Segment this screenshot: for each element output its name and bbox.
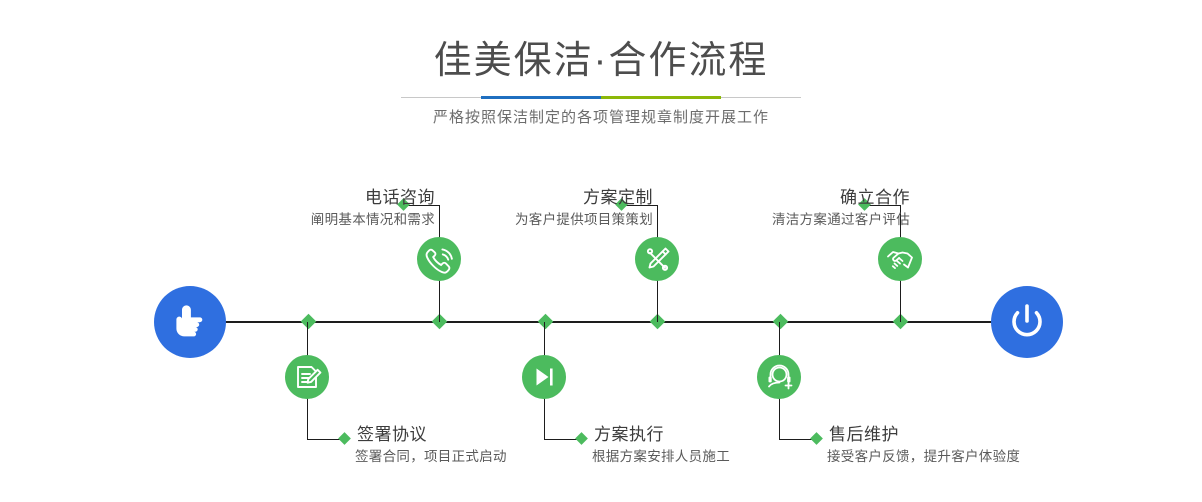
- title-divider: [401, 96, 801, 100]
- axis-node-3: [538, 314, 554, 330]
- page-subtitle: 严格按照保洁制定的各项管理规章制度开展工作: [0, 106, 1202, 127]
- contract-sign-icon: [285, 355, 329, 399]
- power-icon: [991, 286, 1063, 358]
- step-icon-4[interactable]: [522, 355, 566, 399]
- step-desc-4: 根据方案安排人员施工: [592, 448, 730, 466]
- step-title-4: 方案执行: [592, 425, 730, 445]
- step-desc-2: 签署合同，项目正式启动: [355, 448, 507, 466]
- connector-diamond-step-2: [338, 432, 351, 445]
- flow-start-marker: [154, 286, 226, 358]
- page-title: 佳美保洁·合作流程: [0, 42, 1202, 80]
- step-icon-1[interactable]: [417, 237, 461, 281]
- step-label-1: 电话咨询 阐明基本情况和需求: [311, 188, 435, 229]
- handshake-icon: [878, 237, 922, 281]
- step-desc-3: 为客户提供项目策策划: [515, 211, 653, 229]
- infographic-canvas: 佳美保洁·合作流程 严格按照保洁制定的各项管理规章制度开展工作: [0, 0, 1202, 502]
- divider-blue-segment: [481, 96, 601, 99]
- step-icon-3[interactable]: [635, 237, 679, 281]
- step-icon-5[interactable]: [878, 237, 922, 281]
- phone-call-icon: [417, 237, 461, 281]
- play-skip-icon: [522, 355, 566, 399]
- step-desc-5: 清洁方案通过客户评估: [772, 211, 910, 229]
- step-icon-6[interactable]: [757, 355, 801, 399]
- headset-support-add-icon: [757, 355, 801, 399]
- axis-node-5: [773, 314, 789, 330]
- pencil-compass-icon: [635, 237, 679, 281]
- step-label-5: 确立合作 清洁方案通过客户评估: [772, 188, 910, 229]
- step-title-6: 售后维护: [827, 425, 1020, 445]
- step-desc-1: 阐明基本情况和需求: [311, 211, 435, 229]
- step-title-3: 方案定制: [515, 188, 653, 208]
- step-label-2: 签署协议 签署合同，项目正式启动: [355, 425, 507, 466]
- flow-end-marker: [991, 286, 1063, 358]
- axis-node-1: [301, 314, 317, 330]
- step-desc-6: 接受客户反馈，提升客户体验度: [827, 448, 1020, 466]
- step-label-4: 方案执行 根据方案安排人员施工: [592, 425, 730, 466]
- divider-green-segment: [601, 96, 721, 99]
- pointing-hand-icon: [154, 286, 226, 358]
- step-title-5: 确立合作: [772, 188, 910, 208]
- step-title-1: 电话咨询: [311, 188, 435, 208]
- step-label-3: 方案定制 为客户提供项目策策划: [515, 188, 653, 229]
- connector-diamond-step-6: [810, 432, 823, 445]
- step-label-6: 售后维护 接受客户反馈，提升客户体验度: [827, 425, 1020, 466]
- step-title-2: 签署协议: [355, 425, 507, 445]
- step-icon-2[interactable]: [285, 355, 329, 399]
- connector-diamond-step-4: [575, 432, 588, 445]
